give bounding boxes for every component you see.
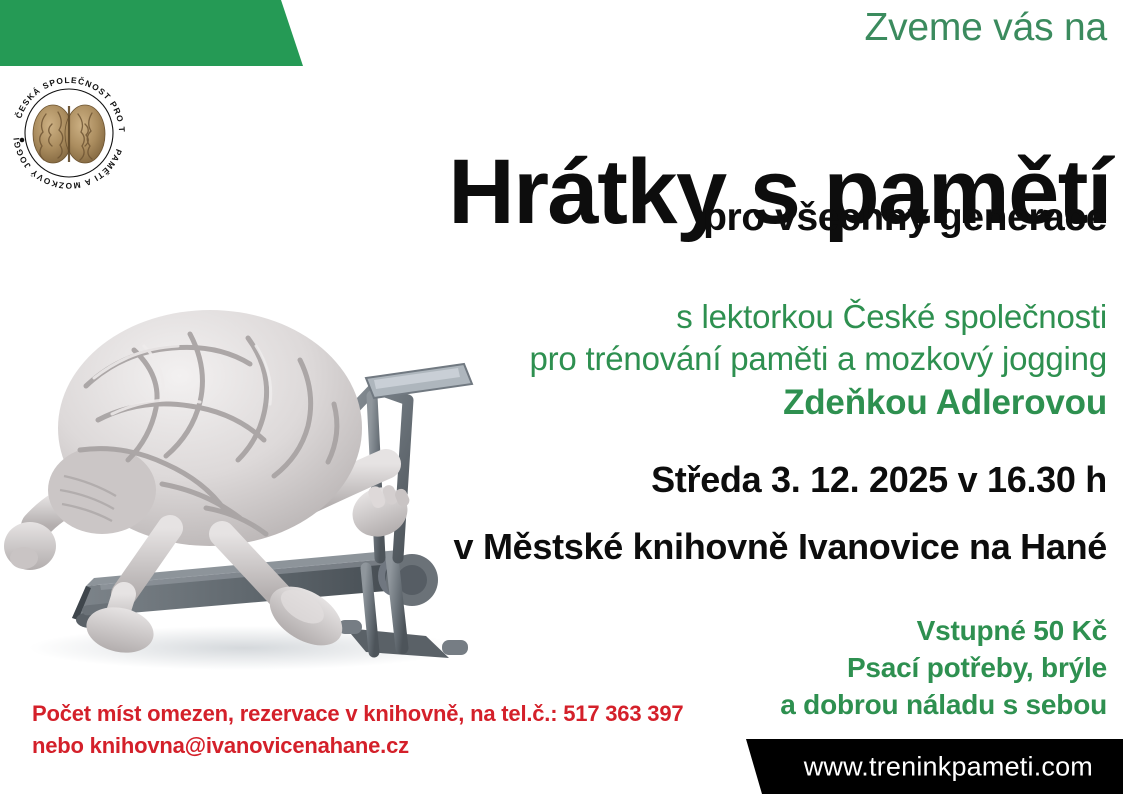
lector-name: Zdeňkou Adlerovou <box>529 380 1107 427</box>
event-datetime: Středa 3. 12. 2025 v 16.30 h <box>651 462 1107 498</box>
admission-fee: Vstupné 50 Kč <box>780 612 1107 649</box>
website-bar: www.treninkpameti.com <box>738 739 1123 794</box>
invite-line: Zveme vás na <box>864 8 1107 47</box>
lector-line-2: pro trénování paměti a mozkový jogging <box>529 338 1107 380</box>
bring-block: Vstupné 50 Kč Psací potřeby, brýle a dob… <box>780 612 1107 724</box>
bring-line-2: Psací potřeby, brýle <box>780 649 1107 686</box>
poster: ČESKÁ SPOLEČNOST PRO TRÉNOVÁNÍ PAMĚTI A … <box>0 0 1123 794</box>
bring-line-3: a dobrou náladu s sebou <box>780 686 1107 723</box>
lector-block: s lektorkou České společnosti pro trénov… <box>529 296 1107 427</box>
reservation-line-1: Počet míst omezen, rezervace v knihovně,… <box>32 698 683 730</box>
subtitle: pro všechny generace <box>703 198 1107 237</box>
brain-treadmill-illustration <box>0 228 514 680</box>
top-green-banner <box>0 0 310 66</box>
reservation-note: Počet míst omezen, rezervace v knihovně,… <box>32 698 683 762</box>
event-venue: v Městské knihovně Ivanovice na Hané <box>454 529 1107 565</box>
website-url[interactable]: www.treninkpameti.com <box>804 751 1093 782</box>
reservation-line-2: nebo knihovna@ivanovicenahane.cz <box>32 730 683 762</box>
lector-line-1: s lektorkou České společnosti <box>529 296 1107 338</box>
society-logo: ČESKÁ SPOLEČNOST PRO TRÉNOVÁNÍ PAMĚTI A … <box>8 72 130 194</box>
